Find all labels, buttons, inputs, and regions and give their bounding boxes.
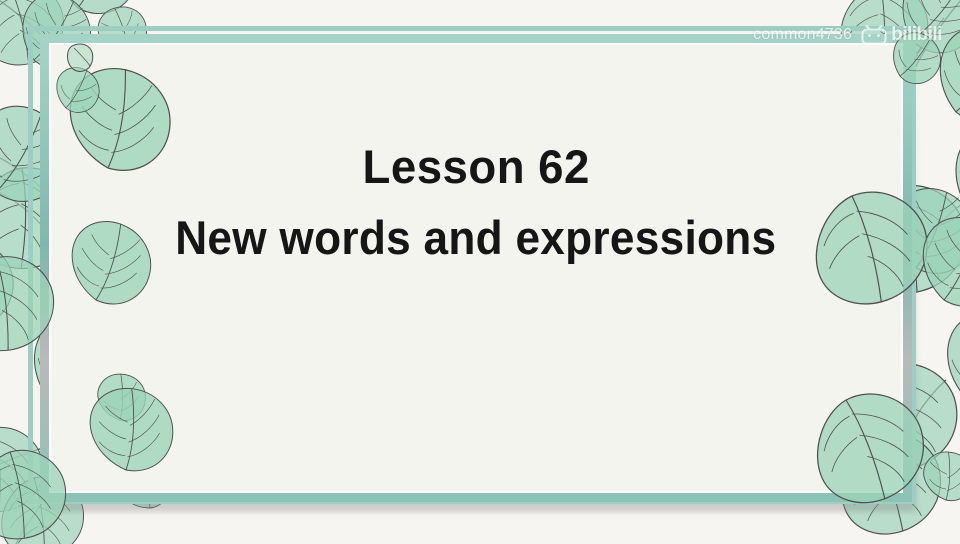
slide-content-area: Lesson 62 New words and expressions [52,46,900,490]
presentation-slide: Lesson 62 New words and expressions [0,0,960,544]
slide-subtitle-topic: New words and expressions [175,213,776,262]
slide-title-lesson: Lesson 62 [362,142,589,191]
